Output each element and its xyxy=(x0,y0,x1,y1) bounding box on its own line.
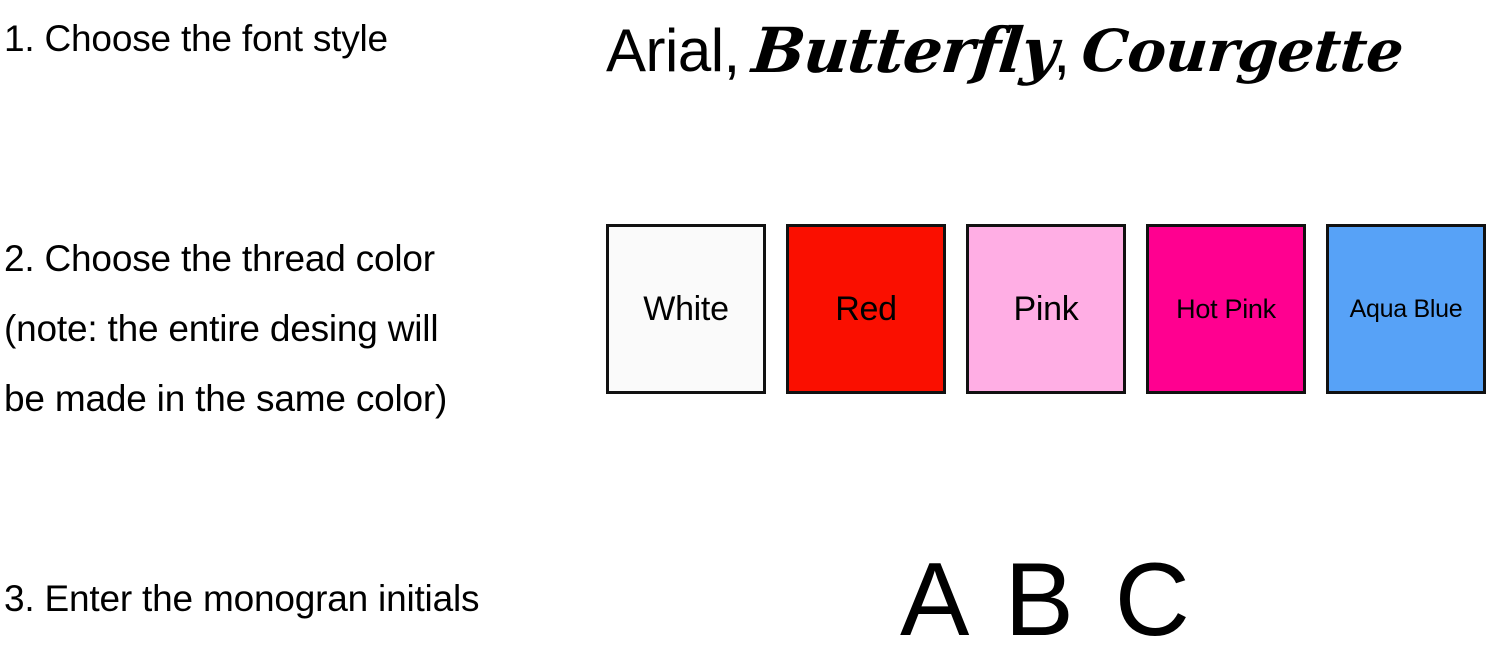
font-sample-separator-1: , xyxy=(724,17,750,86)
step-2-instruction-line-3: be made in the same color) xyxy=(4,364,447,434)
step-2-instruction-line-2: (note: the entire desing will xyxy=(4,294,447,364)
step-2-instruction-line-1: 2. Choose the thread color xyxy=(4,224,447,294)
color-swatch-white[interactable]: White xyxy=(606,224,766,394)
color-swatch-label: Pink xyxy=(1014,290,1079,328)
color-swatch-aqua-blue[interactable]: Aqua Blue xyxy=(1326,224,1486,394)
step-2-instruction-text: 2. Choose the thread color (note: the en… xyxy=(4,224,447,434)
color-swatch-label: White xyxy=(643,290,728,328)
step-3-instruction-text: 3. Enter the monogran initials xyxy=(4,574,479,624)
step-1-instruction-text: 1. Choose the font style xyxy=(4,14,388,64)
monogram-initials-preview: A B C xyxy=(900,540,1260,660)
color-swatch-label: Red xyxy=(835,290,896,328)
color-swatch-red[interactable]: Red xyxy=(786,224,946,394)
font-sample-courgette[interactable]: Courgette xyxy=(1079,16,1406,86)
font-sample-butterfly[interactable]: Butterfly xyxy=(749,16,1060,86)
color-swatch-pink[interactable]: Pink xyxy=(966,224,1126,394)
font-sample-arial[interactable]: Arial xyxy=(606,16,724,86)
thread-color-options[interactable]: White Red Pink Hot Pink Aqua Blue xyxy=(606,224,1486,394)
color-swatch-hot-pink[interactable]: Hot Pink xyxy=(1146,224,1306,394)
instruction-sheet: 1. Choose the font style Arial , Butterf… xyxy=(0,0,1500,652)
color-swatch-label: Hot Pink xyxy=(1176,290,1276,328)
color-swatch-label: Aqua Blue xyxy=(1350,290,1463,328)
font-style-options[interactable]: Arial , Butterfly , Courgette xyxy=(606,6,1500,96)
